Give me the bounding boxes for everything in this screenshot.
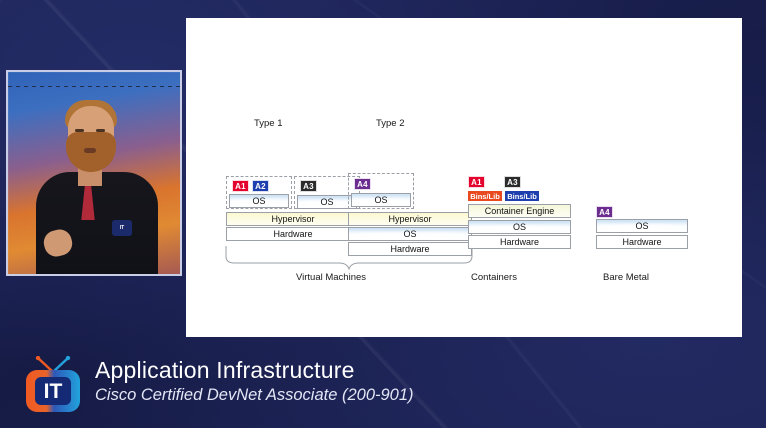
virtual-machines-brace [224,246,474,270]
presenter-webcam[interactable]: IT [6,70,182,276]
baremetal-app-badge-a4: A4 [596,206,613,218]
container-engine-row: Container Engine [468,204,571,218]
app-badge-a3: A3 [300,180,317,192]
containers-hardware-row: Hardware [468,235,571,249]
presenter-torso [36,172,158,276]
presenter-mouth [84,148,96,153]
virtual-machines-label: Virtual Machines [261,272,401,283]
type1-vm-left-os: OS [229,194,289,208]
page-subtitle: Cisco Certified DevNet Associate (200-90… [95,384,414,406]
app-badge-a2: A2 [252,180,269,192]
type1-hypervisor-row: Hypervisor [226,212,360,226]
app-badge-a1: A1 [232,180,249,192]
page-title: Application Infrastructure [95,356,414,384]
container-app-badge-a3: A3 [504,176,521,188]
bins-lib-blue: Bins/Lib [504,190,540,202]
baremetal-os-row: OS [596,219,688,233]
app-badge-a4: A4 [354,178,371,190]
bins-lib-orange: Bins/Lib [467,190,503,202]
presenter-video-frame: IT [8,72,180,274]
type1-label: Type 1 [254,118,283,129]
type2-vm-os: OS [351,193,411,207]
backdrop-dashed-line [8,86,180,87]
bare-metal-label: Bare Metal [576,272,676,283]
presentation-slide: Type 1 Type 2 A1 A2 A3 OS OS Hypervisor … [186,18,742,337]
baremetal-hardware-row: Hardware [596,235,688,249]
title-text-group: Application Infrastructure Cisco Certifi… [95,356,414,406]
svg-text:IT: IT [44,380,63,403]
type1-hardware-row: Hardware [226,227,360,241]
type2-os-row: OS [348,227,472,241]
type2-label: Type 2 [376,118,405,129]
container-app-badge-a1: A1 [468,176,485,188]
shirt-logo-icon: IT [112,220,132,236]
itprotv-logo-icon: IT [22,356,84,414]
type2-hypervisor-row: Hypervisor [348,212,472,226]
containers-os-row: OS [468,220,571,234]
containers-label: Containers [444,272,544,283]
title-bar: IT Application Infrastructure Cisco Cert… [0,346,766,428]
